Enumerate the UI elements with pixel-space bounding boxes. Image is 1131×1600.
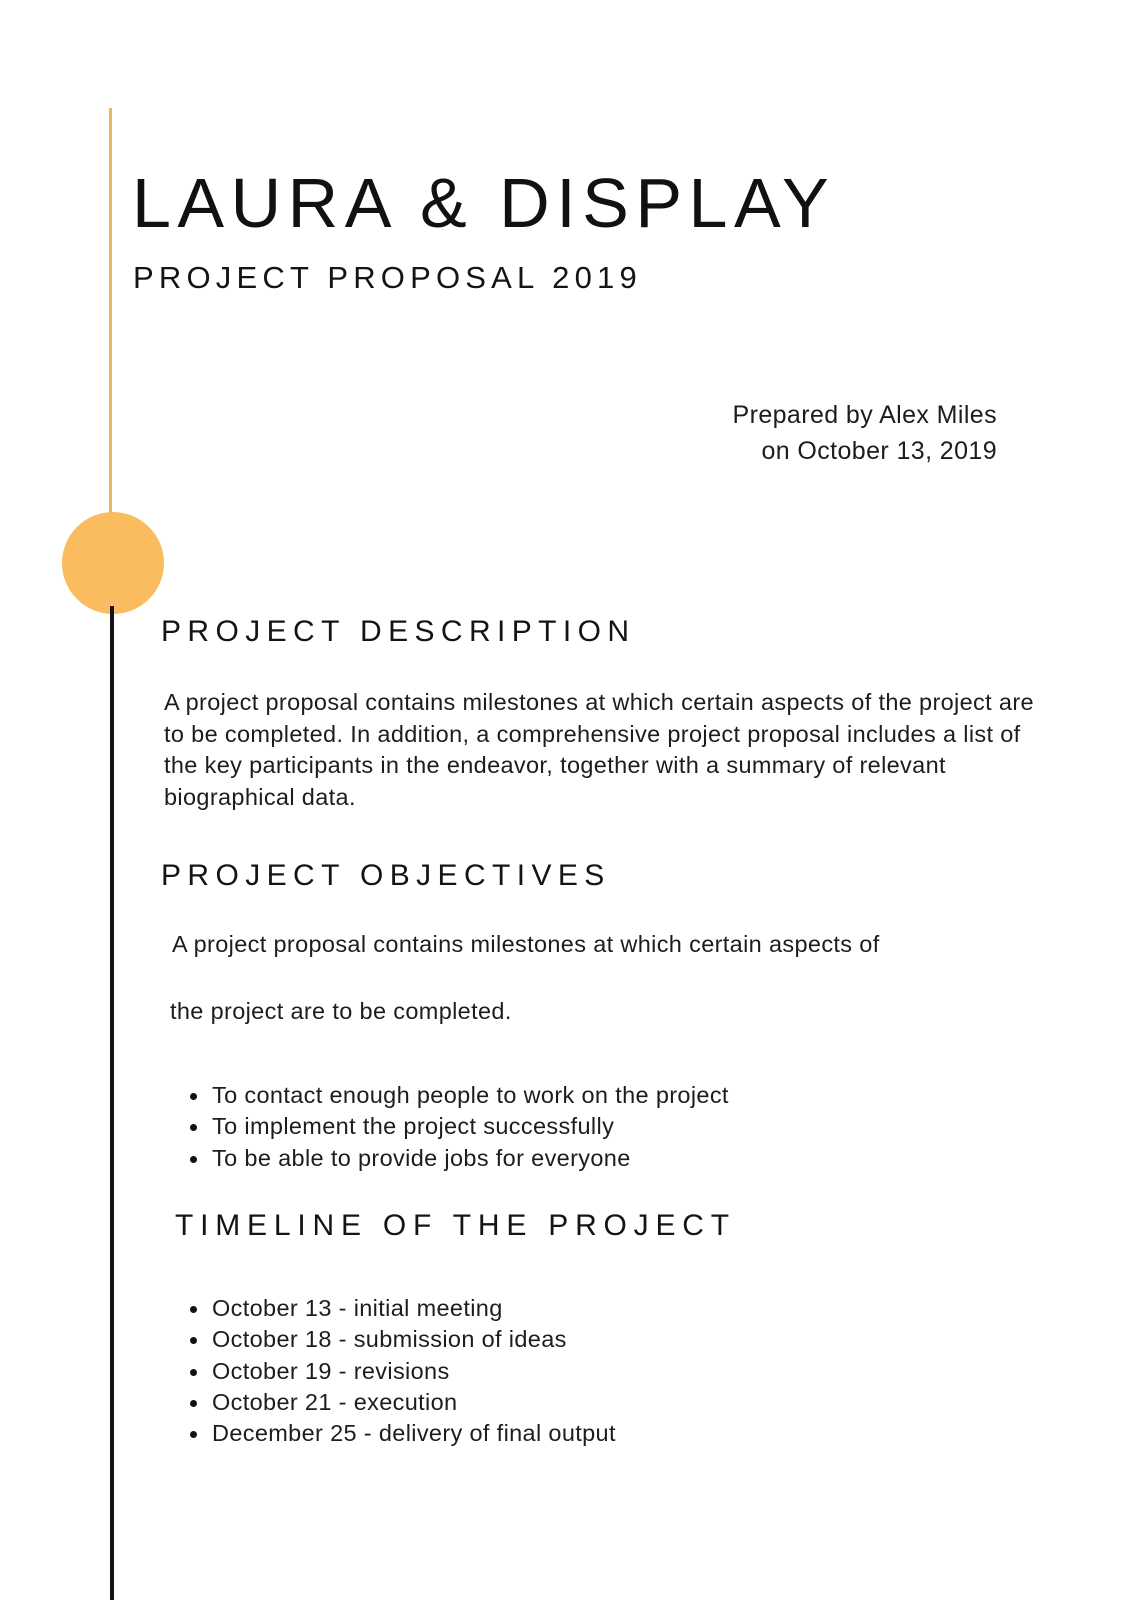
section-body-project-description: A project proposal contains milestones a… bbox=[164, 687, 1044, 814]
prepared-by-line: Prepared by Alex Miles bbox=[733, 398, 997, 434]
list-item: December 25 - delivery of final output bbox=[212, 1418, 616, 1449]
list-item: To contact enough people to work on the … bbox=[212, 1080, 729, 1111]
page-subtitle: PROJECT PROPOSAL 2019 bbox=[133, 262, 642, 293]
timeline-bullet-list: October 13 - initial meeting October 18 … bbox=[182, 1293, 616, 1449]
black-vertical-rule bbox=[110, 606, 114, 1600]
list-item: To be able to provide jobs for everyone bbox=[212, 1143, 729, 1174]
list-item: To implement the project successfully bbox=[212, 1111, 729, 1142]
section-heading-timeline: TIMELINE OF THE PROJECT bbox=[175, 1211, 736, 1241]
objectives-bullet-list: To contact enough people to work on the … bbox=[182, 1080, 729, 1174]
list-item: October 21 - execution bbox=[212, 1387, 616, 1418]
section-heading-project-objectives: PROJECT OBJECTIVES bbox=[161, 861, 611, 891]
prepared-by-block: Prepared by Alex Miles on October 13, 20… bbox=[733, 398, 997, 469]
prepared-date-line: on October 13, 2019 bbox=[733, 434, 997, 470]
section-heading-project-description: PROJECT DESCRIPTION bbox=[161, 617, 635, 647]
list-item: October 19 - revisions bbox=[212, 1356, 616, 1387]
section-body-project-objectives-line2: the project are to be completed. bbox=[170, 996, 990, 1028]
list-item: October 13 - initial meeting bbox=[212, 1293, 616, 1324]
amber-vertical-rule bbox=[109, 108, 112, 520]
amber-circle-accent bbox=[62, 512, 164, 614]
page-title: LAURA & DISPLAY bbox=[132, 168, 835, 238]
section-body-project-objectives-line1: A project proposal contains milestones a… bbox=[172, 929, 932, 961]
list-item: October 18 - submission of ideas bbox=[212, 1324, 616, 1355]
document-page: LAURA & DISPLAY PROJECT PROPOSAL 2019 Pr… bbox=[0, 0, 1131, 1600]
